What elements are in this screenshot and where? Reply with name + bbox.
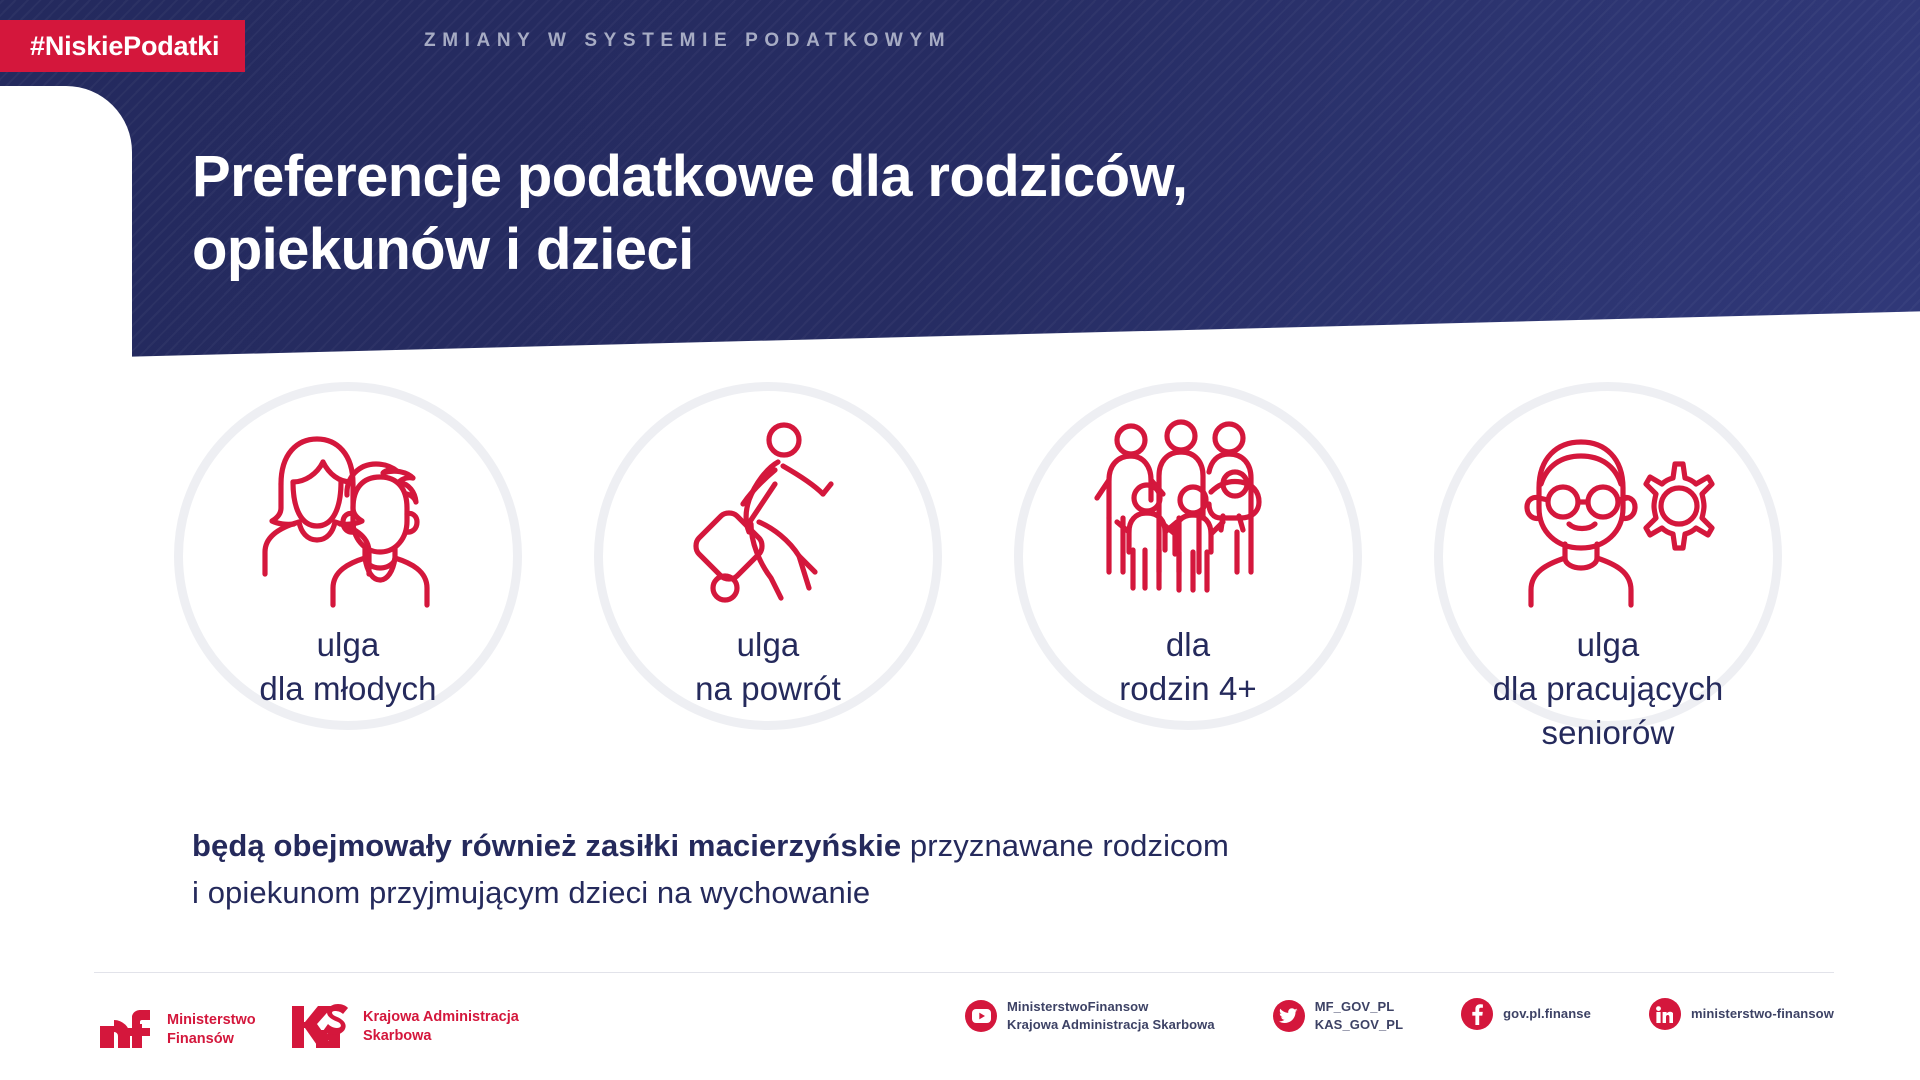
facebook-icon[interactable]	[1461, 998, 1493, 1030]
page-title-line-2: opiekunów i dzieci	[192, 213, 1692, 286]
social-links: MinisterstwoFinansow Krajowa Administrac…	[965, 998, 1834, 1033]
lead-bold-text: będą obejmowały również zasiłki macierzy…	[192, 828, 901, 863]
card-label: ulga dla pracujących seniorów	[1493, 623, 1724, 755]
social-link-facebook[interactable]: gov.pl.finanse	[1461, 998, 1591, 1030]
social-label: MinisterstwoFinansow Krajowa Administrac…	[1007, 998, 1215, 1033]
social-label: gov.pl.finanse	[1503, 1005, 1591, 1023]
footer: Ministerstwo Finansów Krajowa Administra…	[0, 988, 1920, 1080]
kas-logo-icon	[290, 1002, 352, 1052]
card-ulga-na-powrot: ulga na powrót	[588, 384, 948, 711]
card-label: ulga na powrót	[695, 623, 841, 711]
family-of-four-icon	[1083, 422, 1293, 607]
social-link-linkedin[interactable]: ministerstwo-finansow	[1649, 998, 1834, 1030]
benefit-cards: ulga dla młodych	[168, 384, 1788, 804]
lead-paragraph: będą obejmowały również zasiłki macierzy…	[192, 822, 1792, 916]
youtube-icon[interactable]	[965, 1000, 997, 1032]
card-label: dla rodzin 4+	[1119, 623, 1257, 711]
card-dla-rodzin-4plus: dla rodzin 4+	[1008, 384, 1368, 711]
traveler-with-suitcase-icon	[663, 422, 873, 607]
brand-ministerstwo-finansow: Ministerstwo Finansów	[98, 1010, 256, 1050]
social-link-youtube[interactable]: MinisterstwoFinansow Krajowa Administrac…	[965, 998, 1215, 1033]
mf-logo-icon	[98, 1010, 156, 1050]
header-left-notch	[0, 86, 132, 358]
social-link-twitter[interactable]: MF_GOV_PL KAS_GOV_PL	[1273, 998, 1403, 1033]
brand-label: Krajowa Administracja Skarbowa	[363, 1008, 519, 1045]
social-label: ministerstwo-finansow	[1691, 1005, 1834, 1023]
card-label: ulga dla młodych	[259, 623, 436, 711]
page-title-line-1: Preferencje podatkowe dla rodziców,	[192, 140, 1692, 213]
lead-second-line: i opiekunom przyjmującym dzieci na wycho…	[192, 875, 870, 910]
social-label: MF_GOV_PL KAS_GOV_PL	[1315, 998, 1403, 1033]
brand-krajowa-administracja-skarbowa: Krajowa Administracja Skarbowa	[290, 1002, 519, 1052]
header-kicker: ZMIANY W SYSTEMIE PODATKOWYM	[424, 30, 951, 52]
senior-with-gear-icon	[1503, 422, 1713, 607]
two-young-people-icon	[243, 422, 453, 607]
hashtag-badge: #NiskiePodatki	[0, 20, 245, 72]
infographic-page: #NiskiePodatki ZMIANY W SYSTEMIE PODATKO…	[0, 0, 1920, 1080]
card-ulga-dla-mlodych: ulga dla młodych	[168, 384, 528, 711]
footer-divider	[94, 972, 1834, 973]
twitter-icon[interactable]	[1273, 1000, 1305, 1032]
card-ulga-dla-pracujacych-seniorow: ulga dla pracujących seniorów	[1428, 384, 1788, 755]
lead-rest-text: przyznawane rodzicom	[901, 828, 1229, 863]
page-title: Preferencje podatkowe dla rodziców, opie…	[192, 140, 1692, 286]
brand-label: Ministerstwo Finansów	[167, 1011, 256, 1048]
linkedin-icon[interactable]	[1649, 998, 1681, 1030]
